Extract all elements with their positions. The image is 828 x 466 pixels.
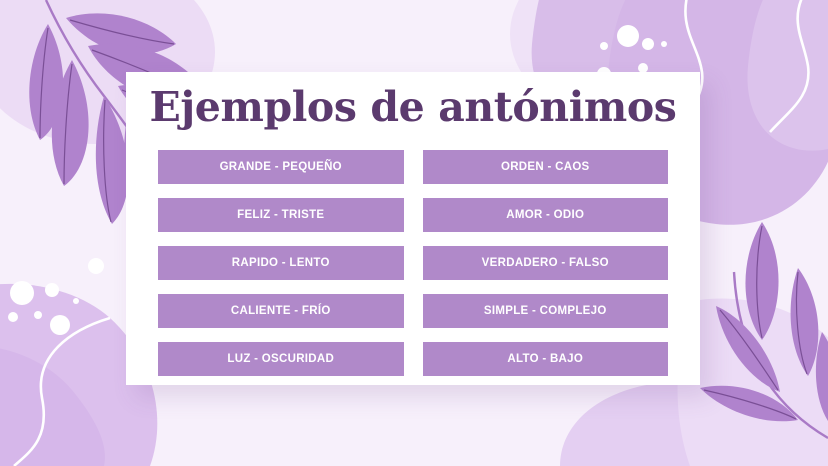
dot-bl-7 bbox=[88, 258, 104, 274]
page-title: Ejemplos de antónimos bbox=[126, 86, 700, 129]
antonym-pill[interactable]: VERDADERO - FALSO bbox=[423, 246, 669, 280]
antonym-pill[interactable]: SIMPLE - COMPLEJO bbox=[423, 294, 669, 328]
antonym-pill[interactable]: ORDEN - CAOS bbox=[423, 150, 669, 184]
dot-bl-6 bbox=[73, 298, 79, 304]
antonym-pill[interactable]: LUZ - OSCURIDAD bbox=[158, 342, 404, 376]
content-card: Ejemplos de antónimos GRANDE - PEQUEÑO F… bbox=[126, 72, 700, 385]
antonym-pill[interactable]: RAPIDO - LENTO bbox=[158, 246, 404, 280]
dot-bl-3 bbox=[34, 311, 42, 319]
dot-bl-2 bbox=[45, 283, 59, 297]
antonym-pill[interactable]: ALTO - BAJO bbox=[423, 342, 669, 376]
antonym-pill[interactable]: AMOR - ODIO bbox=[423, 198, 669, 232]
dot-bl-4 bbox=[8, 312, 18, 322]
left-column: GRANDE - PEQUEÑO FELIZ - TRISTE RAPIDO -… bbox=[158, 150, 404, 376]
dot-tr-7 bbox=[661, 41, 667, 47]
antonym-pill[interactable]: GRANDE - PEQUEÑO bbox=[158, 150, 404, 184]
antonyms-grid: GRANDE - PEQUEÑO FELIZ - TRISTE RAPIDO -… bbox=[158, 150, 668, 376]
antonym-pill[interactable]: FELIZ - TRISTE bbox=[158, 198, 404, 232]
dot-bl-5 bbox=[50, 315, 70, 335]
slide-canvas: Ejemplos de antónimos GRANDE - PEQUEÑO F… bbox=[0, 0, 828, 466]
right-column: ORDEN - CAOS AMOR - ODIO VERDADERO - FAL… bbox=[423, 150, 669, 376]
dot-tr-3 bbox=[600, 42, 608, 50]
antonym-pill[interactable]: CALIENTE - FRÍO bbox=[158, 294, 404, 328]
dot-bl-1 bbox=[10, 281, 34, 305]
dot-tr-1 bbox=[617, 25, 639, 47]
dot-tr-2 bbox=[642, 38, 654, 50]
